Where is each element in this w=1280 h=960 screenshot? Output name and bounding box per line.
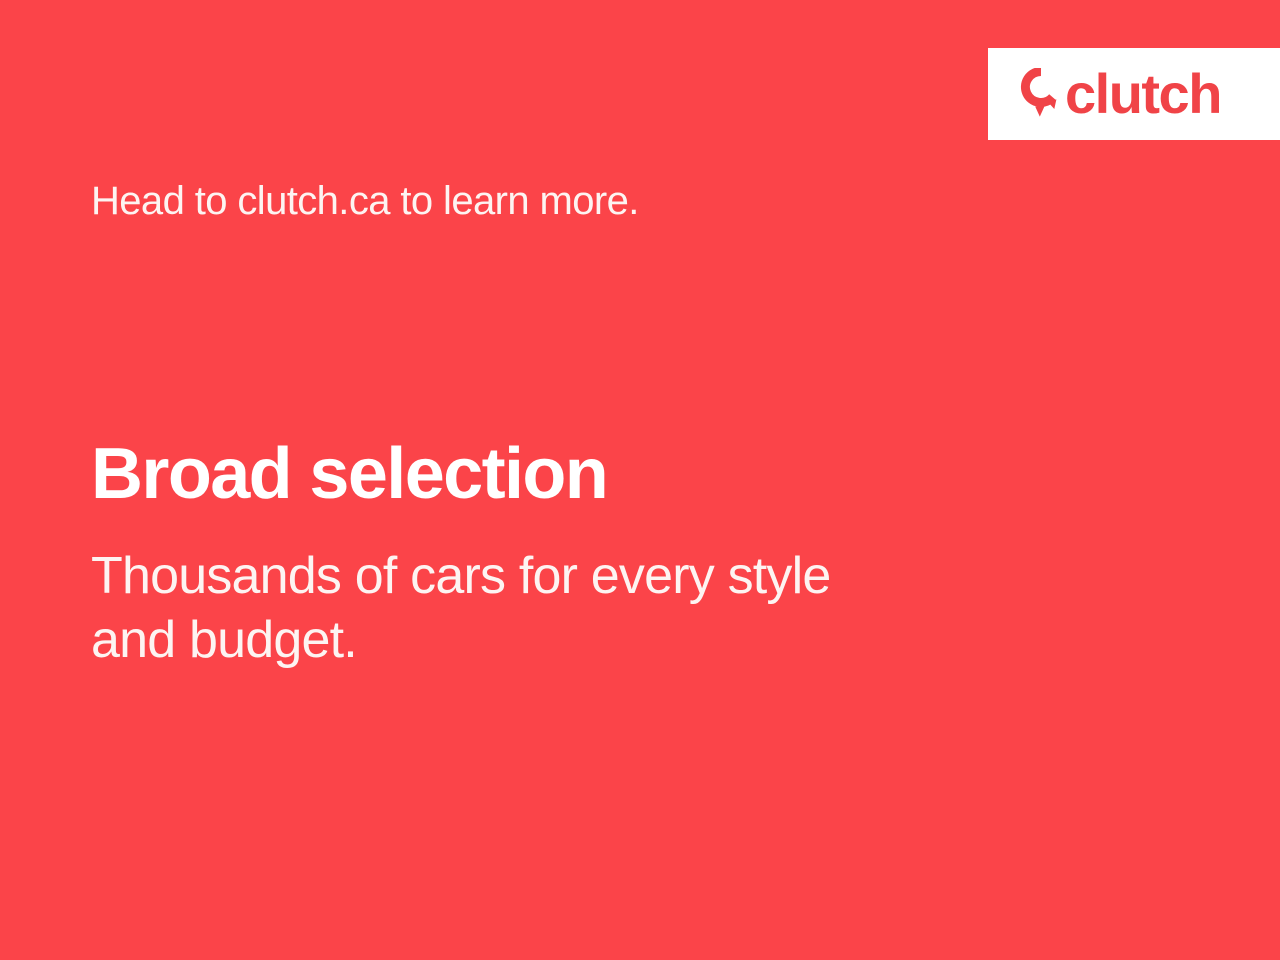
clutch-logo-plate: clutch	[988, 48, 1280, 140]
page-title: Broad selection	[91, 437, 607, 513]
subhead-line-2: and budget.	[91, 609, 1051, 673]
brand-lockup: clutch	[1018, 66, 1221, 122]
clutch-wordmark: clutch	[1065, 66, 1221, 122]
subhead-text: Thousands of cars for every style and bu…	[91, 545, 1051, 673]
subhead-line-1: Thousands of cars for every style	[91, 545, 1051, 609]
kicker-text: Head to clutch.ca to learn more.	[91, 178, 639, 224]
clutch-c-mark-icon	[1018, 68, 1064, 120]
promo-slide: clutch Head to clutch.ca to learn more. …	[0, 0, 1280, 960]
